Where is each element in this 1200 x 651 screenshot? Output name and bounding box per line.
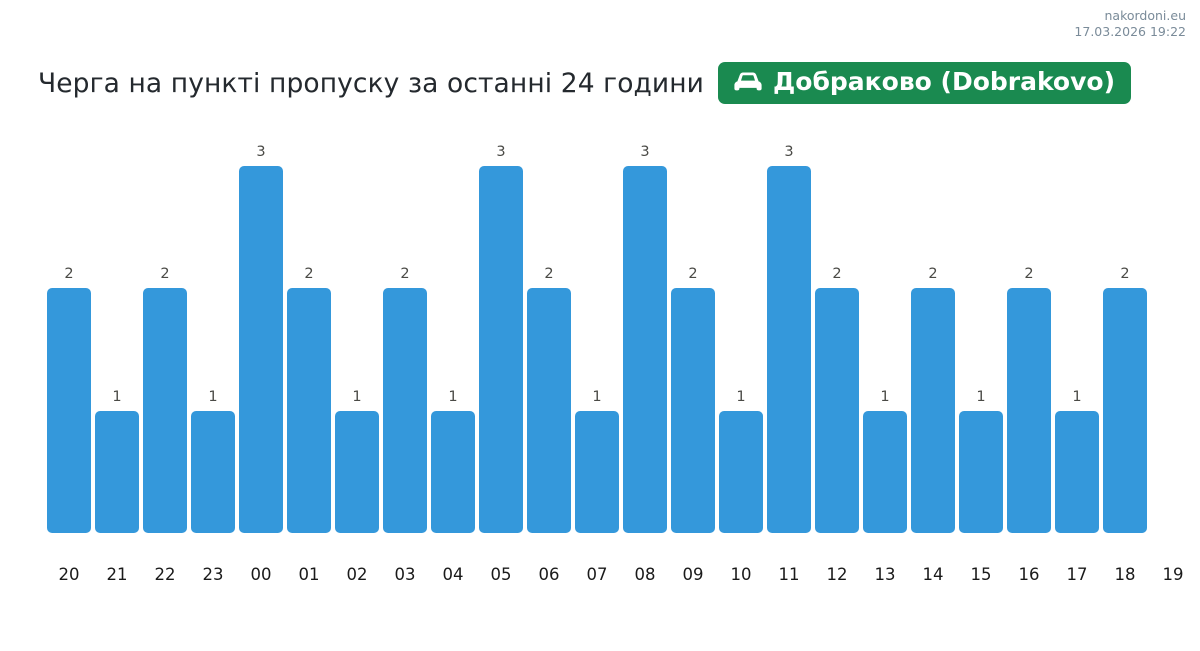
bar-slot: 1 xyxy=(191,140,235,540)
bar-slot: 1 xyxy=(719,140,763,540)
bar-value-label: 1 xyxy=(431,389,475,405)
bar-value-label: 2 xyxy=(911,266,955,282)
chart-bar[interactable] xyxy=(479,166,523,534)
chart-bar[interactable] xyxy=(431,411,475,534)
bar-slot: 2 xyxy=(911,140,955,540)
chart-plot-area: 21213212132132132121212 xyxy=(47,140,1153,540)
bar-value-label: 2 xyxy=(815,266,859,282)
bar-value-label: 2 xyxy=(671,266,715,282)
bar-value-label: 2 xyxy=(383,266,427,282)
chart-bar[interactable] xyxy=(1055,411,1099,534)
chart-bar[interactable] xyxy=(1103,288,1147,533)
bar-value-label: 3 xyxy=(767,144,811,160)
bar-value-label: 2 xyxy=(143,266,187,282)
bar-slot: 1 xyxy=(335,140,379,540)
bar-value-label: 2 xyxy=(1103,266,1147,282)
chart-bar[interactable] xyxy=(623,166,667,534)
bar-value-label: 2 xyxy=(287,266,331,282)
bar-value-label: 1 xyxy=(95,389,139,405)
bar-slot: 1 xyxy=(863,140,907,540)
x-axis-tick-label: 16 xyxy=(1009,565,1049,584)
x-axis-tick-label: 19 xyxy=(1153,565,1193,584)
x-axis-tick-label: 21 xyxy=(97,565,137,584)
x-axis-tick-label: 18 xyxy=(1105,565,1145,584)
bar-slot: 1 xyxy=(959,140,1003,540)
chart-bar[interactable] xyxy=(671,288,715,533)
x-axis-tick-label: 02 xyxy=(337,565,377,584)
bar-value-label: 1 xyxy=(191,389,235,405)
bar-value-label: 2 xyxy=(527,266,571,282)
bar-value-label: 2 xyxy=(1007,266,1051,282)
bar-slot: 3 xyxy=(767,140,811,540)
chart-bar[interactable] xyxy=(287,288,331,533)
chart-bar[interactable] xyxy=(527,288,571,533)
bar-slot: 2 xyxy=(815,140,859,540)
chart-bar[interactable] xyxy=(191,411,235,534)
bar-slot: 3 xyxy=(239,140,283,540)
chart-bar[interactable] xyxy=(95,411,139,534)
bar-value-label: 3 xyxy=(239,144,283,160)
chart-bar[interactable] xyxy=(815,288,859,533)
chart-bar[interactable] xyxy=(911,288,955,533)
chart-bar[interactable] xyxy=(1007,288,1051,533)
bar-value-label: 2 xyxy=(47,266,91,282)
x-axis-tick-label: 08 xyxy=(625,565,665,584)
x-axis-tick-label: 17 xyxy=(1057,565,1097,584)
bar-slot: 3 xyxy=(479,140,523,540)
bar-value-label: 1 xyxy=(959,389,1003,405)
x-axis-tick-label: 10 xyxy=(721,565,761,584)
x-axis-tick-label: 00 xyxy=(241,565,281,584)
x-axis-tick-label: 01 xyxy=(289,565,329,584)
bar-slot: 2 xyxy=(527,140,571,540)
bar-value-label: 3 xyxy=(479,144,523,160)
x-axis-tick-label: 07 xyxy=(577,565,617,584)
chart-bar[interactable] xyxy=(335,411,379,534)
bar-value-label: 1 xyxy=(719,389,763,405)
chart-bar[interactable] xyxy=(383,288,427,533)
x-axis-tick-label: 23 xyxy=(193,565,233,584)
chart-bar[interactable] xyxy=(575,411,619,534)
chart-bar[interactable] xyxy=(719,411,763,534)
chart-bar[interactable] xyxy=(239,166,283,534)
bar-value-label: 1 xyxy=(863,389,907,405)
bar-value-label: 1 xyxy=(335,389,379,405)
x-axis-tick-label: 11 xyxy=(769,565,809,584)
bar-slot: 2 xyxy=(1103,140,1147,540)
bar-slot: 1 xyxy=(575,140,619,540)
bar-slot: 1 xyxy=(431,140,475,540)
x-axis-tick-label: 12 xyxy=(817,565,857,584)
bar-slot: 2 xyxy=(383,140,427,540)
x-axis-tick-label: 14 xyxy=(913,565,953,584)
bar-slot: 2 xyxy=(47,140,91,540)
bar-value-label: 1 xyxy=(575,389,619,405)
chart-bar[interactable] xyxy=(47,288,91,533)
bar-slot: 1 xyxy=(1055,140,1099,540)
x-axis-tick-label: 13 xyxy=(865,565,905,584)
chart-x-axis: 2021222300010203040506070809101112131415… xyxy=(0,565,1200,593)
bar-value-label: 1 xyxy=(1055,389,1099,405)
chart-bar[interactable] xyxy=(863,411,907,534)
x-axis-tick-label: 09 xyxy=(673,565,713,584)
queue-bar-chart: 21213212132132132121212 2021222300010203… xyxy=(0,0,1200,651)
x-axis-tick-label: 05 xyxy=(481,565,521,584)
x-axis-tick-label: 22 xyxy=(145,565,185,584)
x-axis-tick-label: 06 xyxy=(529,565,569,584)
x-axis-tick-label: 04 xyxy=(433,565,473,584)
chart-bar[interactable] xyxy=(143,288,187,533)
bar-slot: 3 xyxy=(623,140,667,540)
bar-slot: 2 xyxy=(287,140,331,540)
x-axis-tick-label: 03 xyxy=(385,565,425,584)
x-axis-tick-label: 15 xyxy=(961,565,1001,584)
bar-slot: 2 xyxy=(143,140,187,540)
bar-slot: 1 xyxy=(95,140,139,540)
x-axis-tick-label: 20 xyxy=(49,565,89,584)
chart-bar[interactable] xyxy=(767,166,811,534)
bar-slot: 2 xyxy=(671,140,715,540)
bar-value-label: 3 xyxy=(623,144,667,160)
bar-slot: 2 xyxy=(1007,140,1051,540)
chart-bar[interactable] xyxy=(959,411,1003,534)
